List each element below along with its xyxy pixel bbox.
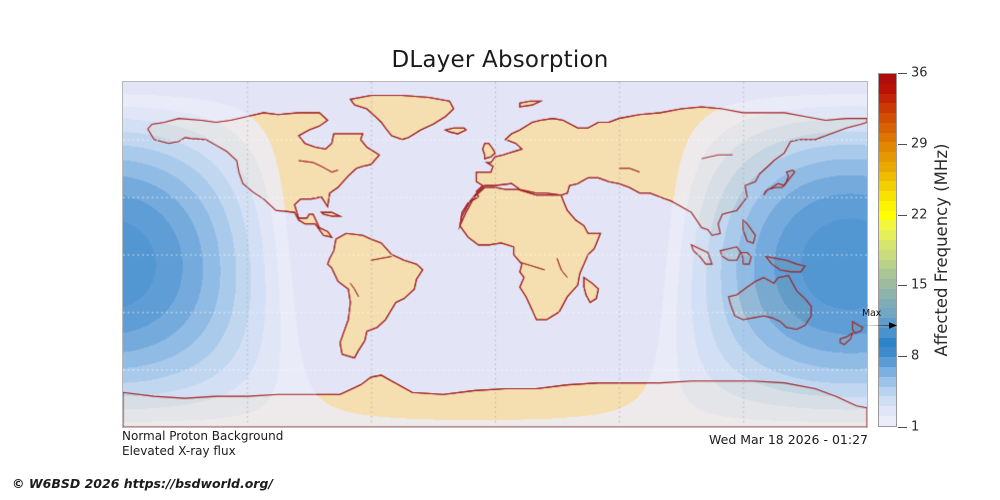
- colorbar-segment: [879, 240, 896, 250]
- colorbar-segment: [879, 367, 896, 377]
- colorbar-segment: [879, 279, 896, 289]
- page-title: DLayer Absorption: [0, 47, 1000, 73]
- colorbar-segment: [879, 250, 896, 260]
- map-plot-area[interactable]: [122, 81, 868, 428]
- colorbar-segment: [879, 230, 896, 240]
- colorbar-segment: [879, 123, 896, 133]
- status-line-proton: Normal Proton Background: [122, 429, 283, 444]
- colorbar-segment: [879, 152, 896, 162]
- colorbar-tick-mark: [898, 73, 907, 74]
- colorbar-segment: [879, 84, 896, 94]
- colorbar-tick-mark: [898, 144, 907, 145]
- colorbar-tick-label: 8: [911, 349, 919, 364]
- colorbar-segment: [879, 377, 896, 387]
- max-marker-label: Max: [862, 308, 881, 319]
- colorbar-tick-mark: [898, 427, 907, 428]
- colorbar-tick-label: 15: [911, 278, 928, 293]
- colorbar-tick-label: 36: [911, 66, 928, 81]
- colorbar-segment: [879, 260, 896, 270]
- colorbar-segment: [879, 289, 896, 299]
- colorbar-segment: [879, 299, 896, 309]
- colorbar-segment: [879, 416, 896, 426]
- colorbar-segment: [879, 74, 896, 84]
- colorbar-segment: [879, 94, 896, 104]
- colorbar-tick-mark: [898, 215, 907, 216]
- colorbar-segment: [879, 396, 896, 406]
- status-annotations: Normal Proton Background Elevated X-ray …: [122, 429, 283, 459]
- colorbar-gradient: [878, 73, 897, 427]
- colorbar-segment: [879, 172, 896, 182]
- colorbar-segment: [879, 201, 896, 211]
- colorbar-segment: [879, 357, 896, 367]
- arrow-right-icon: [862, 321, 898, 330]
- colorbar: 3629221581: [878, 73, 897, 427]
- colorbar-tick-label: 29: [911, 136, 928, 151]
- colorbar-tick-mark: [898, 356, 907, 357]
- status-line-xray: Elevated X-ray flux: [122, 444, 283, 459]
- colorbar-axis-label: Affected Frequency (MHz): [930, 0, 954, 73]
- colorbar-segment: [879, 133, 896, 143]
- colorbar-tick-label: 1: [911, 420, 919, 435]
- colorbar-segment: [879, 211, 896, 221]
- colorbar-segment: [879, 387, 896, 397]
- colorbar-axis-label-text: Affected Frequency (MHz): [930, 73, 954, 427]
- colorbar-segment: [879, 113, 896, 123]
- colorbar-tick-mark: [898, 285, 907, 286]
- colorbar-segment: [879, 269, 896, 279]
- colorbar-segment: [879, 191, 896, 201]
- timestamp-label: Wed Mar 18 2026 - 01:27: [560, 432, 868, 447]
- colorbar-segment: [879, 162, 896, 172]
- colorbar-segment: [879, 142, 896, 152]
- world-absorption-map[interactable]: [123, 82, 867, 427]
- max-marker: Max: [861, 308, 901, 334]
- colorbar-segment: [879, 103, 896, 113]
- copyright-label: © W6BSD 2026 https://bsdworld.org/: [12, 476, 273, 491]
- colorbar-segment: [879, 181, 896, 191]
- colorbar-tick-label: 22: [911, 207, 928, 222]
- colorbar-segment: [879, 220, 896, 230]
- colorbar-segment: [879, 406, 896, 416]
- colorbar-segment: [879, 338, 896, 348]
- colorbar-segment: [879, 347, 896, 357]
